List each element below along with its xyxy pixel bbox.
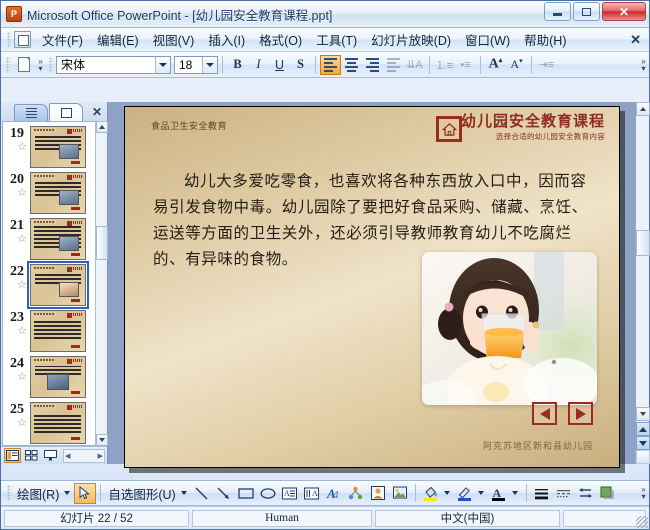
thumbnail-scroll-up-button[interactable]: [96, 121, 108, 133]
thumb-bottom-mark: [71, 299, 80, 302]
new-document-icon: [18, 57, 30, 72]
resize-grip[interactable]: [636, 516, 648, 528]
new-document-button[interactable]: [14, 55, 34, 75]
drawing-toolbar: 绘图(R) 自选图形(U) A A A4: [1, 480, 649, 506]
line-color-caret-icon[interactable]: [478, 491, 484, 495]
align-left-button[interactable]: [320, 55, 341, 75]
menu-file[interactable]: 文件(F): [35, 27, 90, 52]
close-button[interactable]: ✕: [602, 2, 646, 21]
line-style-button[interactable]: [531, 483, 553, 504]
thumbnail-number: 23: [5, 310, 27, 326]
next-triangle-icon: [576, 408, 586, 420]
slide-thumbnail-pane: ✕ 19 ☆: [1, 102, 108, 464]
thumb-image: [59, 190, 79, 205]
line-icon: [194, 486, 209, 501]
picture-icon: [393, 486, 407, 500]
thumb-image: [59, 144, 79, 159]
thumbnail-preview[interactable]: [30, 218, 86, 260]
toolbar-separator-1: [222, 56, 223, 74]
animation-star-icon: ☆: [5, 142, 30, 152]
scroll-left-icon[interactable]: ◀: [65, 452, 70, 460]
slide-editing-area[interactable]: 食品卫生安全教育 幼儿园安全教育课程 选择合适的幼儿园安全教育内容 幼儿大多爱吃…: [109, 102, 635, 464]
workspace: ✕ 19 ☆: [1, 102, 649, 464]
line-spacing-icon: ⇊A: [406, 58, 423, 71]
font-size-dropdown-arrow[interactable]: [202, 57, 217, 73]
toolbar-overflow-2[interactable]: »▾: [638, 55, 649, 75]
thumb-header-line: [34, 405, 54, 407]
menu-grip-handle[interactable]: [7, 32, 11, 48]
text-shadow-button[interactable]: S: [290, 55, 311, 75]
window-title: Microsoft Office PowerPoint - [幼儿园安全教育课程…: [27, 5, 332, 24]
select-arrow-icon: [79, 486, 91, 500]
menu-edit[interactable]: 编辑(E): [90, 27, 146, 52]
thumb-title-lines: [73, 175, 83, 178]
close-pane-button[interactable]: ✕: [92, 105, 102, 119]
fill-color-caret-icon[interactable]: [444, 491, 450, 495]
align-right-button[interactable]: [362, 55, 383, 75]
font-color-caret-icon[interactable]: [512, 491, 518, 495]
tab-outline[interactable]: [14, 104, 48, 121]
italic-button[interactable]: I: [248, 55, 269, 75]
window-controls: ✕: [544, 2, 646, 21]
slide-sorter-icon: [25, 450, 38, 461]
underline-button[interactable]: U: [269, 55, 290, 75]
menu-view[interactable]: 视图(V): [146, 27, 202, 52]
draw-menu-caret-icon[interactable]: [64, 491, 70, 495]
thumbnail-number: 19: [5, 126, 27, 142]
prev-triangle-icon: [540, 408, 550, 420]
thumb-title-lines: [73, 267, 83, 270]
thumb-header-line: [34, 175, 54, 177]
vertical-text-box-icon: A: [304, 487, 319, 500]
thumb-text-lines: [34, 413, 81, 433]
thumb-header-line: [34, 359, 54, 361]
scroll-down-button[interactable]: [636, 407, 650, 421]
underline-icon: U: [275, 58, 284, 72]
increase-indent-icon: ⇥≡: [539, 58, 555, 71]
thumbnail-item-22[interactable]: 22 ☆: [3, 260, 107, 306]
slide-course-subtitle: 选择合适的幼儿园安全教育内容: [461, 131, 605, 142]
thumbnail-scroll-down-button[interactable]: [96, 434, 108, 446]
thumbnail-number: 24: [5, 356, 27, 372]
design-template-name[interactable]: Human: [192, 510, 372, 527]
view-slide-sorter-button[interactable]: [23, 448, 40, 463]
thumb-title-lines: [73, 359, 83, 362]
previous-slide-button[interactable]: [636, 422, 650, 436]
thumb-logo: [67, 267, 72, 272]
svg-text:A: A: [493, 486, 502, 500]
thumb-title-lines: [73, 129, 83, 132]
menu-bar: 文件(F) 编辑(E) 视图(V) 插入(I) 格式(O) 工具(T) 幻灯片放…: [1, 28, 649, 52]
thumb-image: [59, 236, 79, 251]
prev-slide-triangle-button[interactable]: [532, 402, 557, 425]
thumbnail-item-25[interactable]: 25 ☆: [3, 398, 107, 444]
next-slide-triangle-button[interactable]: [568, 402, 593, 425]
drawbar-separator-3: [526, 484, 527, 502]
font-name-input[interactable]: 宋体: [56, 56, 171, 74]
decrease-font-size-button[interactable]: A▾: [506, 55, 527, 75]
thumbnail-preview[interactable]: [30, 310, 86, 352]
thumbnail-preview[interactable]: [30, 356, 86, 398]
thumbnail-list[interactable]: 19 ☆ 20 ☆: [2, 121, 107, 446]
pane-tabs: ✕: [1, 102, 107, 121]
thumb-header-line: [34, 221, 54, 223]
thumb-image: [47, 374, 69, 390]
thumbnail-number: 25: [5, 402, 27, 418]
animation-star-icon: ☆: [5, 234, 30, 244]
thumbnail-item-24[interactable]: 24 ☆: [3, 352, 107, 398]
scroll-up-icon: [640, 107, 646, 111]
line-button[interactable]: [191, 483, 213, 504]
thumb-title-lines: [73, 221, 83, 224]
autoshapes-caret-icon[interactable]: [181, 491, 187, 495]
drawbar-separator-2: [415, 484, 416, 502]
animation-star-icon: ☆: [5, 280, 30, 290]
arrow-style-button[interactable]: [575, 483, 597, 504]
maximize-button[interactable]: [573, 2, 600, 21]
bulleted-list-button[interactable]: •≡: [455, 55, 476, 75]
animation-star-icon: ☆: [5, 372, 30, 382]
next-slide-icon: [639, 441, 647, 446]
document-icon: [14, 31, 31, 48]
scrollbar-end-cap: [636, 450, 650, 464]
align-right-icon: [366, 58, 379, 72]
thumb-logo: [67, 405, 72, 410]
formatting-toolbar: »▾ 宋体 18 B I U S ⇊A ⒈≡: [1, 52, 649, 78]
oval-icon: [260, 487, 276, 500]
scroll-right-icon[interactable]: ▶: [98, 452, 103, 460]
thumb-logo: [67, 175, 72, 180]
font-name-value: 宋体: [61, 56, 85, 73]
view-normal-button[interactable]: [4, 448, 21, 463]
view-slide-show-button[interactable]: [42, 448, 59, 463]
thumbnail-item-20[interactable]: 20 ☆: [3, 168, 107, 214]
menu-window[interactable]: 窗口(W): [458, 27, 517, 52]
insert-picture-button[interactable]: [389, 483, 411, 504]
thumb-bottom-mark: [71, 207, 80, 210]
slide-show-icon: [44, 450, 57, 461]
fill-color-button[interactable]: [420, 483, 442, 504]
menu-help[interactable]: 帮助(H): [517, 27, 573, 52]
arrow-button[interactable]: [213, 483, 235, 504]
text-box-button[interactable]: A: [279, 483, 301, 504]
slide-shadow-wrapper: 食品卫生安全教育 幼儿园安全教育课程 选择合适的幼儿园安全教育内容 幼儿大多爱吃…: [124, 106, 620, 468]
powerpoint-window: P Microsoft Office PowerPoint - [幼儿园安全教育…: [0, 0, 650, 530]
thumb-bottom-mark: [71, 437, 80, 440]
autoshapes-menu-button[interactable]: 自选图形(U): [105, 484, 178, 503]
text-shadow-icon: S: [297, 57, 304, 72]
wordart-icon: A4: [326, 486, 342, 500]
thumb-logo: [67, 359, 72, 364]
thumb-bottom-mark: [71, 391, 80, 394]
thumb-bottom-mark: [71, 161, 80, 164]
increase-indent-button[interactable]: ⇥≡: [536, 55, 557, 75]
house-glyph: [442, 122, 457, 137]
svg-text:A: A: [284, 489, 290, 498]
thumbnail-preview[interactable]: [30, 402, 86, 444]
drawbar-grip[interactable]: [7, 485, 11, 501]
minimize-icon: [553, 13, 562, 16]
drawbar-separator-1: [100, 484, 101, 502]
thumbnail-preview-selected[interactable]: [30, 264, 86, 306]
house-icon: [436, 116, 462, 142]
normal-view-icon: [6, 450, 19, 461]
oval-button[interactable]: [257, 483, 279, 504]
thumbnail-item-21[interactable]: 21 ☆: [3, 214, 107, 260]
view-buttons-bar: ◀ ▶: [1, 446, 107, 464]
bold-icon: B: [233, 57, 241, 72]
next-slide-button[interactable]: [636, 436, 650, 450]
slide-photo[interactable]: [422, 252, 597, 405]
toolbar-grip-2[interactable]: [49, 57, 53, 73]
toolbar-separator-5: [531, 56, 532, 74]
svg-text:A: A: [312, 489, 318, 498]
scroll-up-button[interactable]: [636, 102, 650, 116]
font-size-value: 18: [179, 58, 192, 72]
arrow-icon: [216, 486, 231, 501]
distribute-text-button[interactable]: [383, 55, 404, 75]
diagram-icon: [348, 486, 363, 501]
menu-tools[interactable]: 工具(T): [309, 27, 364, 52]
thumb-bottom-mark: [71, 345, 80, 348]
scroll-thumb[interactable]: [636, 230, 650, 256]
status-empty-cell: [563, 510, 646, 527]
thumb-logo: [67, 129, 72, 134]
thumb-header-line: [34, 129, 54, 131]
current-slide[interactable]: 食品卫生安全教育 幼儿园安全教育课程 选择合适的幼儿园安全教育内容 幼儿大多爱吃…: [124, 106, 620, 468]
menu-insert[interactable]: 插入(I): [201, 27, 252, 52]
slide-header-left: 食品卫生安全教育: [151, 119, 227, 132]
bold-button[interactable]: B: [227, 55, 248, 75]
menu-format[interactable]: 格式(O): [252, 27, 309, 52]
thumbnail-item-19[interactable]: 19 ☆: [3, 122, 107, 168]
thumbnail-scrollbar[interactable]: [95, 121, 107, 446]
close-document-button[interactable]: ✕: [630, 32, 641, 48]
thumb-header-line: [34, 313, 54, 315]
maximize-icon: [582, 8, 591, 16]
arrow-style-icon: [578, 486, 593, 500]
line-color-button[interactable]: [454, 483, 476, 504]
diagram-button[interactable]: [345, 483, 367, 504]
line-spacing-button[interactable]: ⇊A: [404, 55, 425, 75]
language-indicator[interactable]: 中文(中国): [375, 510, 560, 527]
rectangle-button[interactable]: [235, 483, 257, 504]
svg-text:4: 4: [333, 489, 339, 500]
thumbnail-number: 22: [5, 264, 27, 280]
thumbnail-number: 21: [5, 218, 27, 234]
thumbnail-preview[interactable]: [30, 172, 86, 214]
powerpoint-app-icon: P: [6, 6, 22, 22]
increase-font-size-icon: A▴: [489, 56, 503, 73]
thumb-header-line: [34, 267, 54, 269]
tab-slides[interactable]: [49, 103, 83, 121]
thumbnail-item-23[interactable]: 23 ☆: [3, 306, 107, 352]
thumbnail-horizontal-scrollbar[interactable]: ◀ ▶: [63, 449, 105, 463]
dash-style-button[interactable]: [553, 483, 575, 504]
shadow-style-icon: [600, 486, 615, 500]
toolbar-grip-1[interactable]: [6, 57, 10, 73]
align-center-button[interactable]: [341, 55, 362, 75]
animation-star-icon: ☆: [5, 326, 30, 336]
bulleted-list-icon: •≡: [460, 59, 470, 71]
align-center-icon: [345, 58, 358, 72]
menu-slideshow[interactable]: 幻灯片放映(D): [364, 27, 458, 52]
slide-counter: 幻灯片 22 / 52: [4, 510, 189, 527]
toolbar-separator-2: [315, 56, 316, 74]
thumb-bottom-mark: [71, 253, 80, 256]
font-size-input[interactable]: 18: [174, 56, 218, 74]
slides-icon: [61, 108, 72, 118]
thumb-title-lines: [73, 313, 83, 316]
dash-style-icon: [556, 487, 571, 500]
slide-footer: 阿克苏地区新和县幼儿园: [483, 439, 593, 452]
thumbnail-number: 20: [5, 172, 27, 188]
line-style-icon: [534, 487, 549, 500]
clip-art-button[interactable]: [367, 483, 389, 504]
animation-star-icon: ☆: [5, 188, 30, 198]
distribute-text-icon: [387, 58, 400, 72]
thumb-logo: [67, 313, 72, 318]
status-bar: 幻灯片 22 / 52 Human 中文(中国): [1, 506, 649, 529]
font-color-icon: A: [491, 486, 506, 501]
animation-star-icon: ☆: [5, 418, 30, 428]
increase-font-size-button[interactable]: A▴: [485, 55, 506, 75]
thumb-title-lines: [73, 405, 83, 408]
scroll-down-icon: [640, 412, 646, 416]
toolbar-overflow-1[interactable]: »▾: [35, 55, 46, 75]
vertical-text-box-button[interactable]: A: [301, 483, 323, 504]
align-left-icon: [324, 58, 337, 72]
thumb-image: [59, 282, 79, 297]
fill-color-icon: [423, 486, 438, 501]
drawbar-overflow[interactable]: »▾: [638, 483, 649, 503]
wordart-button[interactable]: A4: [323, 483, 345, 504]
decrease-font-size-icon: A▾: [510, 57, 522, 72]
italic-icon: I: [256, 57, 260, 72]
toolbar-separator-3: [429, 56, 430, 74]
outline-icon: [26, 108, 37, 119]
scroll-up-icon: [99, 125, 105, 129]
numbered-list-button[interactable]: ⒈≡: [434, 55, 455, 75]
slide-course-title: 幼儿园安全教育课程: [461, 114, 605, 131]
thumbnail-scroll-thumb[interactable]: [96, 226, 108, 260]
font-color-button[interactable]: A: [488, 483, 510, 504]
child-drinking-juice-photo: [422, 252, 597, 405]
minimize-button[interactable]: [544, 2, 571, 21]
slide-vertical-scrollbar[interactable]: [635, 102, 649, 464]
slide-header-title-block: 幼儿园安全教育课程 选择合适的幼儿园安全教育内容: [461, 114, 605, 142]
scroll-down-icon: [99, 438, 105, 442]
select-objects-button[interactable]: [74, 483, 96, 504]
rectangle-icon: [238, 487, 254, 500]
toolbar-separator-4: [480, 56, 481, 74]
previous-slide-icon: [639, 427, 647, 432]
thumb-text-lines: [34, 319, 81, 339]
clip-art-icon: [371, 486, 385, 500]
text-box-icon: A: [282, 487, 297, 500]
draw-menu-button[interactable]: 绘图(R): [14, 484, 62, 503]
font-name-dropdown-arrow[interactable]: [155, 57, 170, 73]
line-color-icon: [457, 486, 472, 501]
shadow-style-button[interactable]: [597, 483, 619, 504]
title-bar: P Microsoft Office PowerPoint - [幼儿园安全教育…: [1, 1, 649, 28]
numbered-list-icon: ⒈≡: [436, 57, 453, 73]
thumbnail-preview[interactable]: [30, 126, 86, 168]
